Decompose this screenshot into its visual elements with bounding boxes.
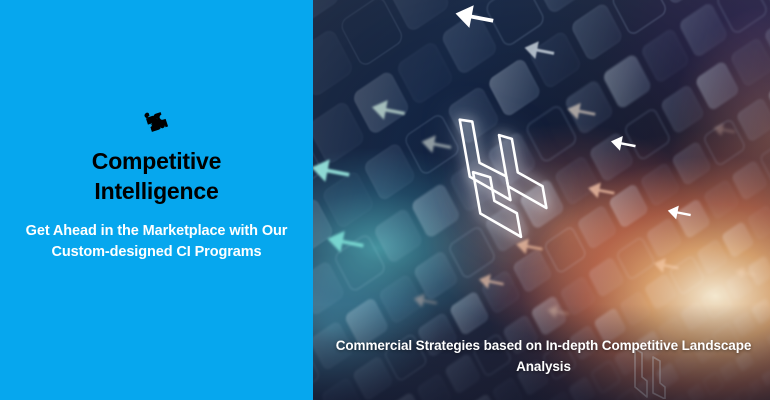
subtitle-line-1: Get Ahead in the Marketplace with Our (26, 221, 288, 242)
title-line-1: Competitive (92, 146, 221, 176)
page-title: Competitive Intelligence (82, 146, 231, 207)
page-subtitle: Get Ahead in the Marketplace with Our Cu… (18, 221, 296, 263)
title-line-2: Intelligence (92, 176, 221, 206)
competitive-intelligence-banner: Competitive Intelligence Get Ahead in th… (0, 0, 770, 400)
subtitle-line-2: Custom-designed CI Programs (26, 242, 288, 263)
caption-line-2: Analysis (516, 359, 571, 374)
puzzle-piece-icon (140, 108, 174, 142)
hero-image-panel: Commercial Strategies based on In-depth … (313, 0, 770, 400)
image-caption: Commercial Strategies based on In-depth … (331, 336, 756, 378)
left-blue-panel: Competitive Intelligence Get Ahead in th… (0, 0, 313, 400)
caption-line-1: Commercial Strategies based on In-depth … (336, 338, 752, 353)
